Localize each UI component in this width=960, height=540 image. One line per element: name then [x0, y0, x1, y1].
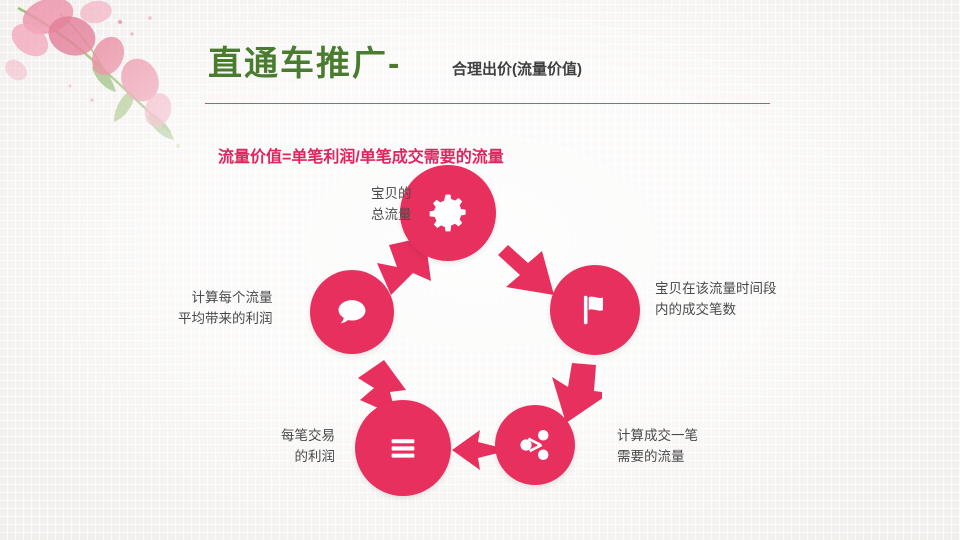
- cycle-label-bottom-right-line1: 计算成交一笔: [617, 425, 698, 446]
- flag-icon: [576, 291, 614, 329]
- cycle-label-left-line1: 计算每个流量: [178, 287, 273, 308]
- cycle-node-left[interactable]: [310, 270, 394, 354]
- page-subtitle-bold: 合理出价: [452, 61, 512, 78]
- cycle-label-right: 宝贝在该流量时间段 内的成交笔数: [655, 278, 777, 320]
- cycle-label-bottom-left: 每笔交易 的利润: [281, 425, 335, 467]
- cycle-label-right-line2: 内的成交笔数: [655, 299, 777, 320]
- cycle-label-left: 计算每个流量 平均带来的利润: [178, 287, 273, 329]
- title-divider: [205, 103, 770, 104]
- cycle-label-top: 宝贝的 总流量: [371, 183, 412, 225]
- cycle-label-right-line1: 宝贝在该流量时间段: [655, 278, 777, 299]
- cycle-label-top-line2: 总流量: [371, 204, 412, 225]
- cycle-node-right[interactable]: [550, 265, 640, 355]
- page-subtitle: 合理出价(流量价值): [452, 58, 582, 79]
- cycle-node-bottom-left[interactable]: [355, 400, 451, 496]
- cycle-label-top-line1: 宝贝的: [371, 183, 412, 204]
- cycle-label-bottom-left-line1: 每笔交易: [281, 425, 335, 446]
- page-title: 直通车推广-: [208, 36, 401, 85]
- slide-canvas: 直通车推广- 合理出价(流量价值) 流量价值=单笔利润/单笔成交需要的流量: [0, 0, 960, 540]
- flower-decoration-icon: [0, 0, 240, 190]
- formula-text: 流量价值=单笔利润/单笔成交需要的流量: [218, 143, 504, 167]
- cycle-label-bottom-right: 计算成交一笔 需要的流量: [617, 425, 698, 467]
- chat-icon: [333, 293, 371, 331]
- cycle-label-left-line2: 平均带来的利润: [178, 308, 273, 329]
- cycle-node-bottom-right[interactable]: [495, 405, 575, 485]
- cycle-label-bottom-left-line2: 的利润: [281, 446, 335, 467]
- cycle-node-top[interactable]: [400, 165, 496, 261]
- page-subtitle-paren: (流量价值): [512, 61, 582, 78]
- share-icon: [517, 427, 553, 463]
- equals-icon: [382, 427, 424, 469]
- cycle-label-bottom-right-line2: 需要的流量: [617, 446, 698, 467]
- gear-icon: [427, 192, 469, 234]
